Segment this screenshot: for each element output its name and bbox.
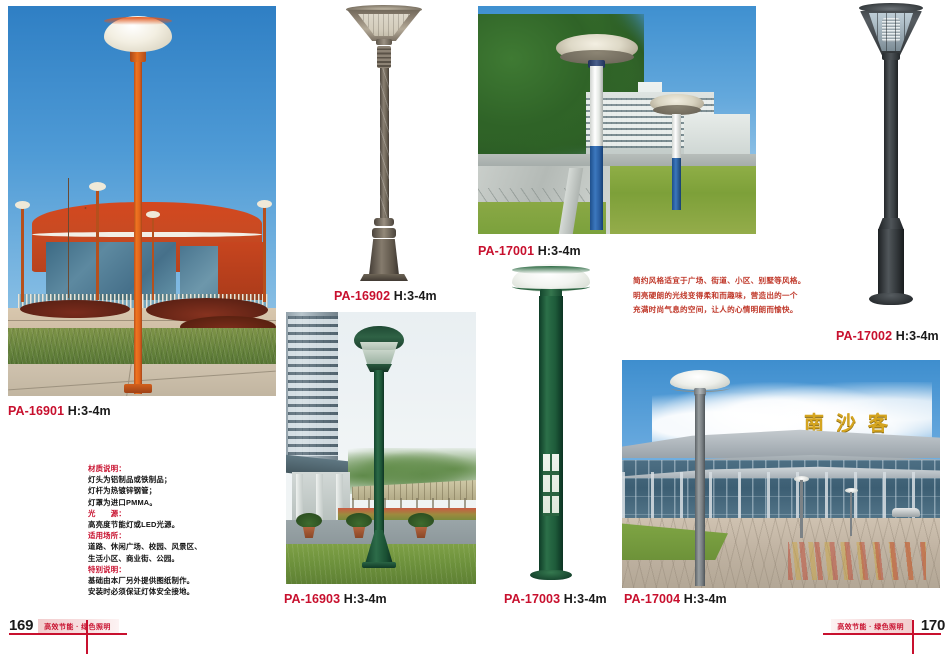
- spec-source-heading: 光 源：: [88, 508, 248, 519]
- sign-character-2: 沙: [836, 413, 856, 433]
- product-height: H:3-4m: [394, 289, 437, 303]
- lamp-pole: [884, 60, 898, 220]
- lamp-base-plate: [124, 384, 152, 393]
- background-lamp-pole-mid: [800, 480, 803, 538]
- product-photo-pa-17001: [478, 6, 756, 234]
- blurb-line-2: 明亮硬朗的光线变得柔和而趣味，营造出的一个: [633, 289, 823, 304]
- potted-plant-foliage: [408, 513, 434, 528]
- lamp-pole-knob-lower: [372, 228, 396, 238]
- product-photo-pa-17003: [496, 258, 606, 588]
- product-photo-pa-17004: 南 沙 客: [622, 360, 940, 588]
- sign-character-3: 客: [868, 413, 888, 433]
- blurb-line-1: 简约风格适宜于广场、街道、小区、别墅等风格。: [633, 274, 823, 289]
- spec-place-line-2: 生活小区、商业街、公园。: [88, 553, 248, 564]
- product-photo-pa-16903: [286, 312, 476, 584]
- spec-source-line-1: 高亮度节能灯或LED光源。: [88, 519, 248, 530]
- flower-pot: [351, 527, 367, 538]
- lamp-pole: [374, 370, 384, 552]
- lamp-pole: [695, 394, 705, 586]
- background-lamp-head-mid: [89, 182, 106, 191]
- background-lamp-head-right: [257, 200, 272, 208]
- lamp-pole: [134, 58, 142, 394]
- footer-divider-left: [86, 620, 88, 654]
- product-height: H:3-4m: [538, 244, 581, 258]
- background-lamp-head-left: [15, 201, 30, 209]
- product-height: H:3-4m: [896, 329, 939, 343]
- product-label-pa-17002: PA-17002 H:3-4m: [836, 329, 939, 343]
- lamp-dome-rim: [104, 17, 172, 25]
- lamp-pole-blue-section-far: [672, 158, 681, 210]
- potted-plant-foliage: [296, 513, 322, 528]
- lamp-decorative-rings: [377, 46, 391, 68]
- product-photo-pa-17002: [838, 0, 944, 320]
- product-code: PA-17003: [504, 592, 560, 606]
- spec-place-line-1: 道路、休闲广场、校园、风景区、: [88, 541, 248, 552]
- parked-car: [892, 508, 920, 517]
- background-lamp-pole-far: [850, 492, 852, 536]
- product-height: H:3-4m: [564, 592, 607, 606]
- product-label-pa-17004: PA-17004 H:3-4m: [624, 592, 727, 606]
- lawn-foreground: [478, 202, 606, 234]
- product-height: H:3-4m: [684, 592, 727, 606]
- office-building-annex: [684, 114, 750, 158]
- lamp-foot-plate: [869, 293, 913, 305]
- flower-pot: [413, 527, 429, 538]
- footer-divider-right: [912, 620, 914, 654]
- product-code: PA-17002: [836, 329, 892, 343]
- lamp-dome-rim: [512, 266, 590, 274]
- marketing-blurb: 简约风格适宜于广场、街道、小区、别墅等风格。 明亮硬朗的光线变得柔和而趣味，营造…: [633, 274, 823, 318]
- specification-text-block: 材质说明： 灯头为铝制品或铁制品； 灯杆为热镀锌钢管； 灯罩为进口PMMA。 光…: [88, 463, 248, 597]
- lamp-foot-plate: [360, 274, 408, 281]
- product-label-pa-16902: PA-16902 H:3-4m: [334, 289, 437, 303]
- spec-material-line-3: 灯罩为进口PMMA。: [88, 497, 248, 508]
- product-height: H:3-4m: [344, 592, 387, 606]
- red-shrub-left: [20, 300, 130, 318]
- lamp-base-skirt: [878, 229, 904, 295]
- lamp-collar: [882, 53, 900, 60]
- product-label-pa-16901: PA-16901 H:3-4m: [8, 404, 111, 418]
- spec-material-heading: 材质说明：: [88, 463, 248, 474]
- product-photo-pa-16902: [332, 2, 436, 284]
- lamp-collar: [376, 39, 392, 45]
- product-height: H:3-4m: [68, 404, 111, 418]
- office-tower-windows: [288, 316, 338, 456]
- footer-rule-right: [823, 633, 941, 635]
- lamp-pole-fluting: [380, 68, 389, 220]
- product-label-pa-17003: PA-17003 H:3-4m: [504, 592, 607, 606]
- lamp-column-pole: [539, 296, 563, 574]
- lamp-foot-plate: [362, 562, 396, 568]
- building-stripe: [32, 232, 262, 237]
- spec-special-line-2: 安装时必须保证灯体安全接地。: [88, 586, 248, 597]
- colored-paving-tiles: [788, 542, 926, 580]
- product-label-pa-17001: PA-17001 H:3-4m: [478, 244, 581, 258]
- sign-character-1: 南: [804, 413, 824, 433]
- spec-material-line-1: 灯头为铝制品或铁制品；: [88, 474, 248, 485]
- spec-material-line-2: 灯杆为热镀锌钢管；: [88, 485, 248, 496]
- illuminated-panel-grid: [543, 454, 559, 516]
- product-code: PA-16901: [8, 404, 64, 418]
- product-code: PA-16902: [334, 289, 390, 303]
- lamp-base-skirt: [369, 239, 399, 275]
- lamp-pole-blue-section-near: [590, 146, 603, 230]
- blurb-line-3: 充满时尚气息的空间，让人的心情明朗而愉快。: [633, 303, 823, 318]
- product-photo-pa-16901: [8, 6, 276, 396]
- product-code: PA-17004: [624, 592, 680, 606]
- spec-special-heading: 特别说明：: [88, 564, 248, 575]
- lamp-foot-plate: [530, 570, 572, 580]
- spec-special-line-1: 基础由本厂另外提供图纸制作。: [88, 575, 248, 586]
- product-code: PA-17001: [478, 244, 534, 258]
- background-lamp-pole-center: [152, 216, 154, 300]
- spec-place-heading: 适用场所：: [88, 530, 248, 541]
- footer-rule-left: [9, 633, 127, 635]
- product-code: PA-16903: [284, 592, 340, 606]
- flower-pot: [301, 527, 317, 538]
- product-label-pa-16903: PA-16903 H:3-4m: [284, 592, 387, 606]
- building-glass-facade: [46, 242, 176, 300]
- background-lamp-pole-left: [21, 206, 24, 302]
- potted-plant-foliage: [346, 513, 372, 528]
- background-lamp-pole-right: [263, 206, 266, 302]
- building-wall-right: [218, 242, 264, 300]
- lamp-pole-knob-upper: [374, 218, 394, 226]
- background-lamp-head-center: [146, 211, 160, 218]
- background-lamp-pole-mid: [96, 188, 99, 300]
- catalog-page-spread: PA-16901 H:3-4m PA-16902 H:3-4m: [0, 0, 950, 654]
